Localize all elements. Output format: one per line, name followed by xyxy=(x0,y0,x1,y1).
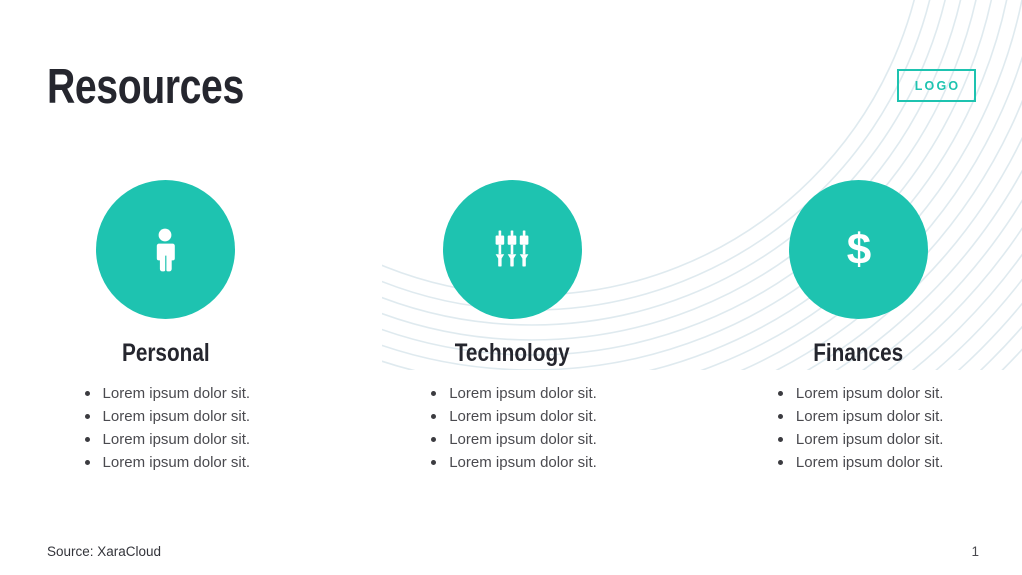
icon-circle-technology[interactable] xyxy=(443,180,582,319)
icon-circle-personal[interactable] xyxy=(96,180,235,319)
list-item: Lorem ipsum dolor sit. xyxy=(81,451,251,474)
page-number: 1 xyxy=(971,544,979,559)
bullet-list-technology: Lorem ipsum dolor sit. Lorem ipsum dolor… xyxy=(427,382,597,474)
resource-column-finances: $ Finances Lorem ipsum dolor sit. Lorem … xyxy=(688,180,1022,474)
list-item: Lorem ipsum dolor sit. xyxy=(81,382,251,405)
list-item: Lorem ipsum dolor sit. xyxy=(774,428,944,451)
footer-source: Source: XaraCloud xyxy=(47,544,161,559)
svg-text:$: $ xyxy=(846,225,870,274)
dollar-icon: $ xyxy=(841,225,877,275)
icon-circle-finances[interactable]: $ xyxy=(789,180,928,319)
slide-canvas: Resources LOGO Personal Lorem ipsum dolo… xyxy=(0,0,1022,575)
logo-box[interactable]: LOGO xyxy=(897,69,976,102)
list-item: Lorem ipsum dolor sit. xyxy=(774,405,944,428)
list-item: Lorem ipsum dolor sit. xyxy=(427,428,597,451)
column-heading-personal: Personal xyxy=(122,339,210,368)
list-item: Lorem ipsum dolor sit. xyxy=(81,405,251,428)
logo-label: LOGO xyxy=(913,79,961,93)
resource-columns: Personal Lorem ipsum dolor sit. Lorem ip… xyxy=(0,180,1022,474)
resource-column-technology: Technology Lorem ipsum dolor sit. Lorem … xyxy=(342,180,683,474)
bullet-list-personal: Lorem ipsum dolor sit. Lorem ipsum dolor… xyxy=(81,382,251,474)
bullet-list-finances: Lorem ipsum dolor sit. Lorem ipsum dolor… xyxy=(774,382,944,474)
list-item: Lorem ipsum dolor sit. xyxy=(774,451,944,474)
resource-column-personal: Personal Lorem ipsum dolor sit. Lorem ip… xyxy=(0,180,336,474)
list-item: Lorem ipsum dolor sit. xyxy=(774,382,944,405)
page-title: Resources xyxy=(47,62,244,113)
sliders-icon xyxy=(490,228,534,272)
list-item: Lorem ipsum dolor sit. xyxy=(81,428,251,451)
person-icon xyxy=(148,228,182,272)
list-item: Lorem ipsum dolor sit. xyxy=(427,451,597,474)
list-item: Lorem ipsum dolor sit. xyxy=(427,382,597,405)
list-item: Lorem ipsum dolor sit. xyxy=(427,405,597,428)
column-heading-finances: Finances xyxy=(814,339,904,368)
column-heading-technology: Technology xyxy=(455,339,570,368)
